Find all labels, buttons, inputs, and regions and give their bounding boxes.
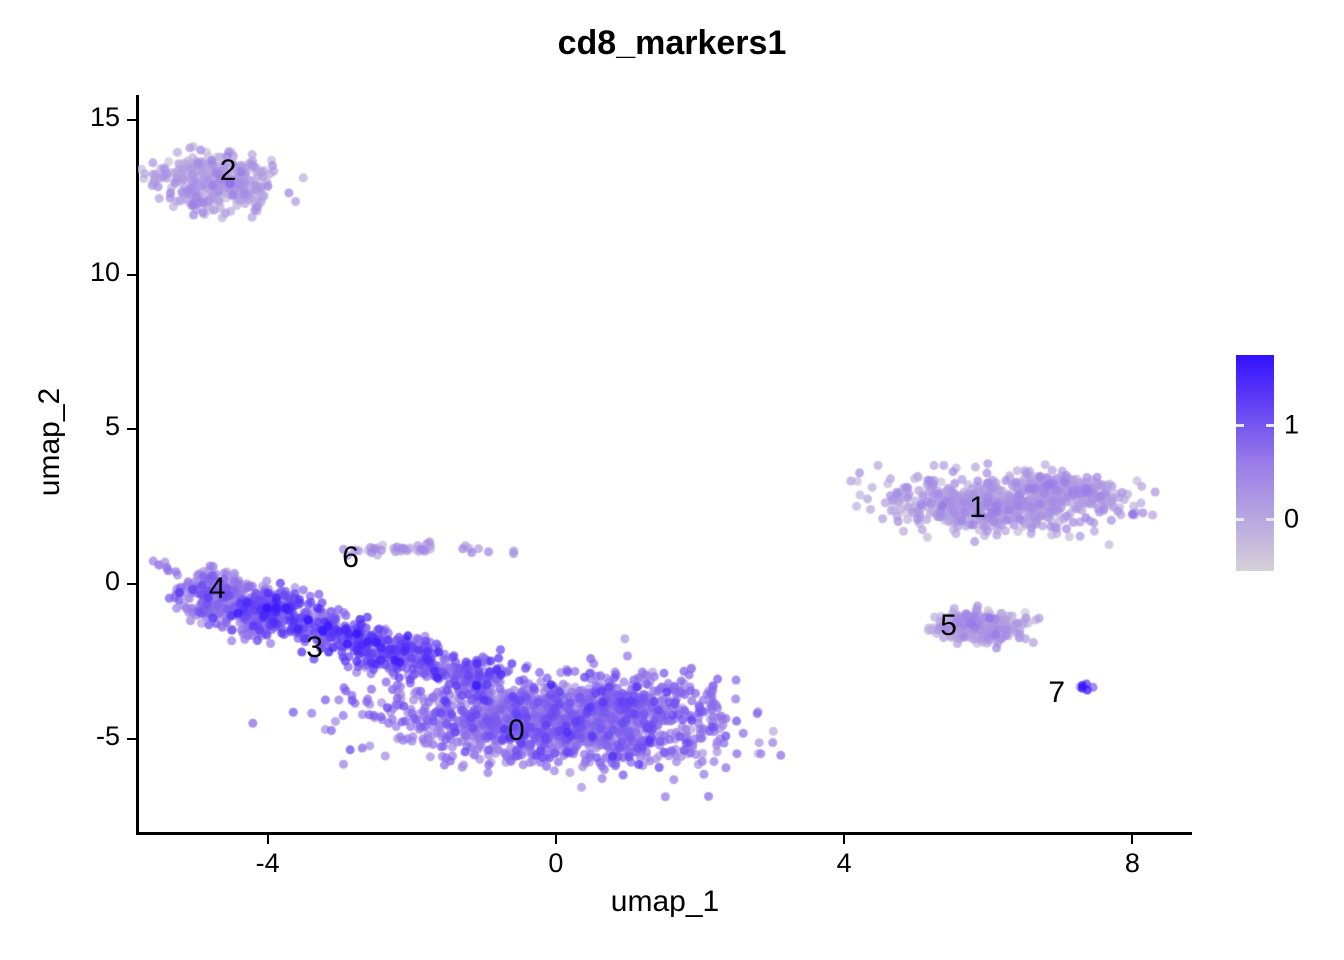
x-axis-label: umap_1 xyxy=(0,885,1330,919)
colorbar-legend: 10 xyxy=(1236,355,1336,575)
x-tick-mark xyxy=(267,835,269,844)
colorbar-tick-mark xyxy=(1236,518,1244,521)
umap-feature-plot: cd8_markers1 151050-5 -4048 01234567 uma… xyxy=(0,0,1344,960)
scatter-points-layer xyxy=(138,95,1190,832)
y-tick-mark xyxy=(127,428,136,430)
y-tick-label: -5 xyxy=(40,721,120,752)
y-tick-mark xyxy=(127,119,136,121)
colorbar-tick-label: 0 xyxy=(1284,504,1299,535)
y-tick-label: 15 xyxy=(40,102,120,133)
x-tick-label: 0 xyxy=(516,848,596,879)
y-tick-mark xyxy=(127,274,136,276)
x-tick-label: -4 xyxy=(228,848,308,879)
x-tick-label: 8 xyxy=(1092,848,1172,879)
page-title: cd8_markers1 xyxy=(0,24,1344,63)
plot-panel xyxy=(138,95,1190,832)
y-axis-label: umap_2 xyxy=(33,292,67,592)
y-tick-mark xyxy=(127,738,136,740)
colorbar-tick-label: 1 xyxy=(1284,410,1299,441)
x-tick-label: 4 xyxy=(804,848,884,879)
colorbar-tick-mark xyxy=(1266,424,1274,427)
x-tick-mark xyxy=(1131,835,1133,844)
x-axis-line xyxy=(136,832,1192,835)
y-tick-label: 10 xyxy=(40,257,120,288)
x-tick-mark xyxy=(843,835,845,844)
x-axis-label-text: umap_1 xyxy=(611,885,719,919)
y-tick-mark xyxy=(127,583,136,585)
x-tick-mark xyxy=(555,835,557,844)
colorbar-gradient xyxy=(1236,355,1274,571)
colorbar-tick-mark xyxy=(1266,518,1274,521)
colorbar-tick-mark xyxy=(1236,424,1244,427)
